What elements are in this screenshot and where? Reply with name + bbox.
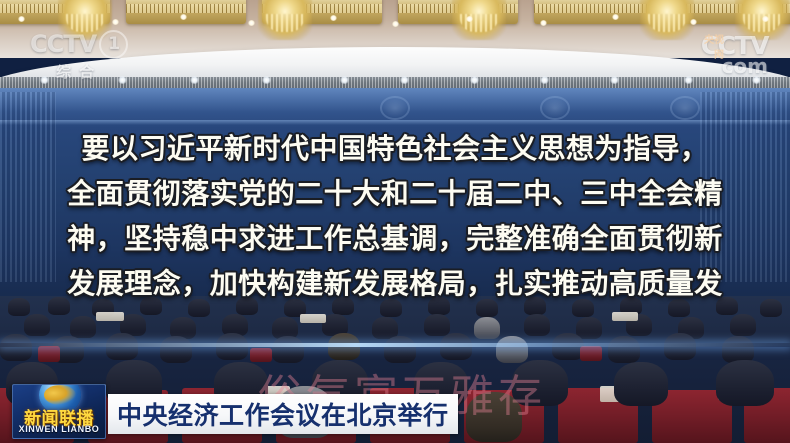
backdrop-curtain <box>0 92 56 282</box>
headline-banner: 中央经济工作会议在北京举行 <box>108 394 458 434</box>
channel-name-label: 综合 <box>30 61 128 82</box>
wall-emblem <box>380 96 410 120</box>
program-logo: 新闻联播 XINWEN LIANBO <box>12 384 106 439</box>
chandelier-ornament <box>452 0 506 40</box>
cctv-com-watermark: 央视网 CCTV com <box>701 34 768 75</box>
stage-ledge <box>0 120 790 125</box>
backdrop-curtain <box>700 92 790 282</box>
channel-number-badge: 1 <box>99 30 128 59</box>
cctv-wordmark: CCTV <box>30 30 96 58</box>
wall-emblem <box>670 96 700 120</box>
broadcast-screenshot: 要以习近平新时代中国特色社会主义思想为指导， 全面贯彻落实党的二十大和二十届二中… <box>0 0 790 443</box>
chandelier-ornament <box>640 0 694 40</box>
channel-logo: CCTV1 综合 <box>30 30 128 82</box>
headline-text: 中央经济工作会议在北京举行 <box>117 396 449 432</box>
chandelier-ornament <box>258 0 312 40</box>
wall-emblem <box>540 96 570 120</box>
program-name-en: XINWEN LIANBO <box>13 424 105 434</box>
yangshi-label: 央视网 <box>701 31 724 61</box>
